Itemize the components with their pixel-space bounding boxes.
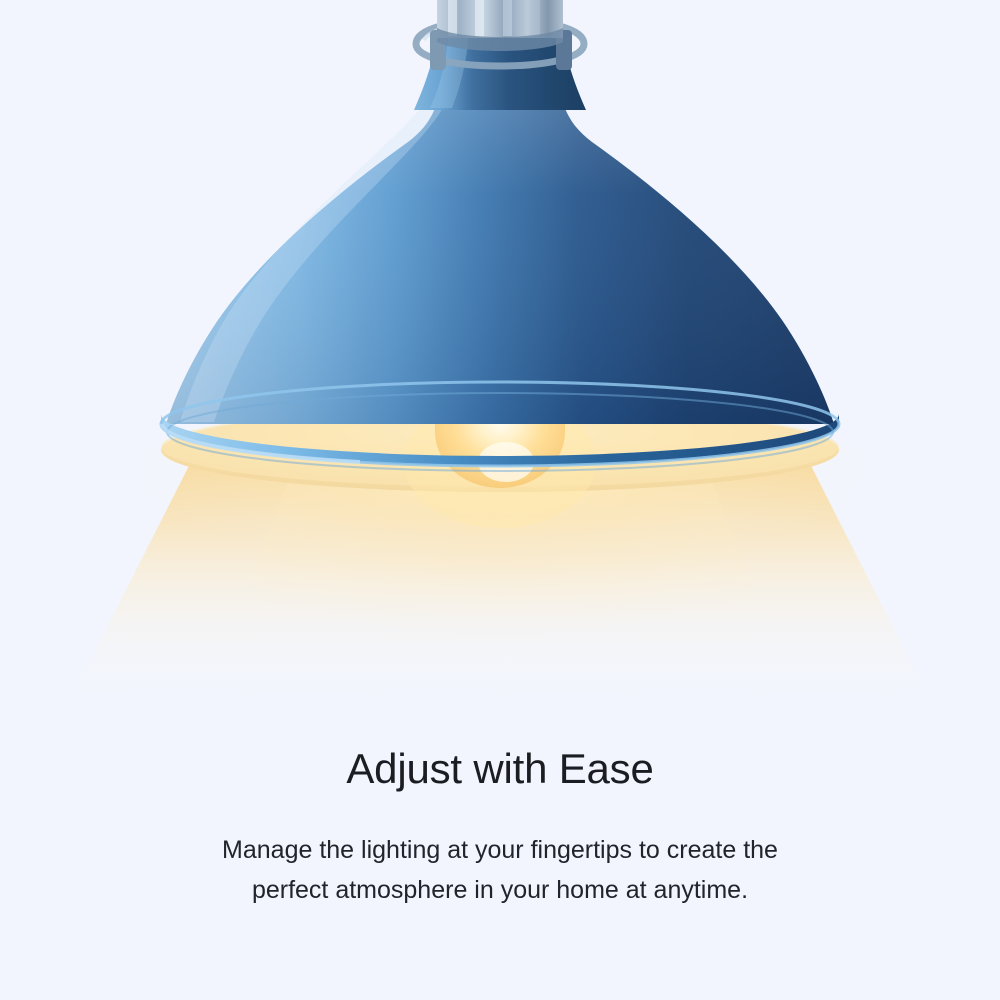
page-subtitle: Manage the lighting at your fingertips t… (120, 830, 880, 911)
cap-fin (475, 0, 484, 36)
subtitle-line-2: perfect atmosphere in your home at anyti… (120, 870, 880, 911)
subtitle-line-1: Manage the lighting at your fingertips t… (120, 830, 880, 871)
lamp-shade (166, 72, 834, 424)
page-title: Adjust with Ease (0, 745, 1000, 794)
cap-fin (531, 0, 540, 36)
cap-fin (503, 0, 512, 36)
hero-image (0, 0, 1000, 740)
promo-card: Adjust with Ease Manage the lighting at … (0, 0, 1000, 1000)
pendant-lamp-illustration (0, 0, 1000, 740)
caption-block: Adjust with Ease Manage the lighting at … (0, 745, 1000, 911)
lamp-cap (437, 0, 563, 51)
cap-fin (448, 0, 457, 36)
